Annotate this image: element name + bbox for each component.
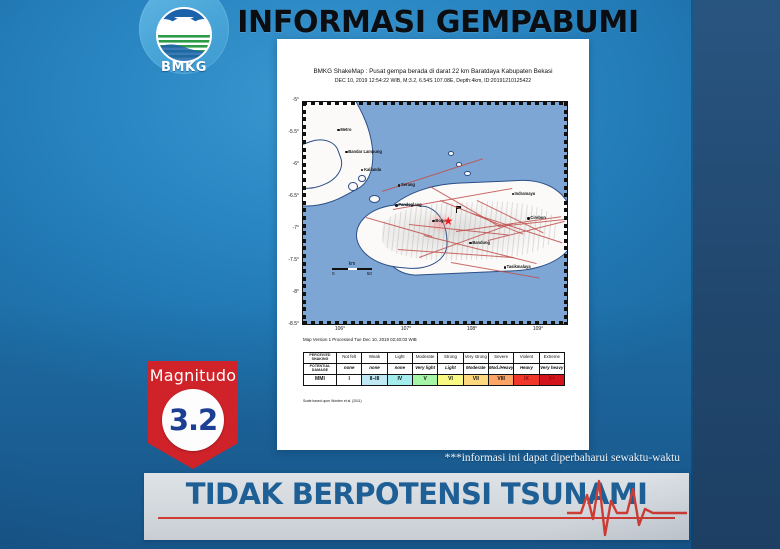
intensity-cell: VII — [463, 374, 488, 385]
axis-tickmark — [564, 201, 567, 205]
axis-tickmark — [303, 307, 306, 311]
axis-tickmark — [463, 102, 467, 105]
axis-tickmark — [303, 277, 306, 281]
y-axis-tick: -5° — [293, 97, 299, 103]
intensity-cell: Weak — [362, 353, 387, 364]
city-label: Tasikmalaya — [507, 264, 531, 269]
axis-tickmark — [327, 102, 331, 105]
intensity-cell: Violent — [514, 353, 539, 364]
axis-tickmark — [303, 201, 306, 205]
axis-tickmark — [303, 300, 306, 304]
axis-tickmark — [303, 170, 306, 174]
intensity-row-label: PERCEIVED SHAKING — [304, 353, 337, 364]
axis-tickmark — [303, 208, 306, 212]
axis-tickmark — [423, 102, 427, 105]
axis-tickmark — [303, 102, 307, 105]
axis-tickmark — [519, 102, 523, 105]
axis-tickmark — [343, 102, 347, 105]
x-axis-tick: 107° — [401, 326, 411, 332]
axis-tickmark — [303, 269, 306, 273]
axis-tickmark — [303, 193, 306, 197]
map-scalebar: km 0 50 — [332, 261, 372, 276]
intensity-row: POTENTIAL DAMAGEnonenonenoneVery lightLi… — [304, 363, 565, 374]
magnitude-label: Magnitudo — [148, 366, 238, 385]
axis-tickmark — [564, 239, 567, 243]
axis-tickmark — [564, 170, 567, 174]
shakemap-subtitle: DEC 10, 2019 12:54:22 WIB, M:3.2, 6.54S … — [285, 78, 581, 84]
intensity-cell: V — [412, 374, 437, 385]
axis-tickmark — [303, 178, 306, 182]
poster-root: BMKG INFORMASI GEMPABUMI BMKG ShakeMap :… — [0, 0, 780, 549]
map-version-note: Map Version 1 Processed Tue Dec 10, 2019… — [303, 337, 417, 342]
axis-tickmark — [439, 102, 443, 105]
x-axis-tick: 106° — [335, 326, 345, 332]
page-title: INFORMASI GEMPABUMI — [238, 2, 638, 42]
axis-tickmark — [564, 277, 567, 281]
city-label: Bandar Lampung — [348, 149, 382, 154]
y-axis-tick: -7.5° — [288, 257, 299, 263]
intensity-row-label: MMI — [304, 374, 337, 385]
intensity-cell: II–III — [362, 374, 387, 385]
axis-tickmark — [564, 254, 567, 258]
axis-tickmark — [367, 102, 371, 105]
intensity-cell: Moderate — [463, 363, 488, 374]
axis-tickmark — [564, 155, 567, 159]
city-label: Pandeglang — [398, 202, 421, 207]
city-label: Cirebon — [530, 215, 545, 220]
magnitude-circle: 3.2 — [162, 389, 224, 451]
axis-tickmark — [564, 125, 567, 129]
axis-tickmark — [431, 102, 435, 105]
axis-tickmark — [399, 102, 403, 105]
axis-tickmark — [564, 163, 567, 167]
axis-tickmark — [407, 102, 411, 105]
axis-tickmark — [303, 117, 306, 121]
intensity-cell: Very light — [412, 363, 437, 374]
city-label: Serang — [401, 182, 415, 187]
axis-tickmark — [303, 315, 306, 319]
axis-tickmark — [303, 125, 306, 129]
axis-tickmark — [311, 102, 315, 105]
axis-tickmark — [535, 102, 539, 105]
axis-tickmark — [564, 186, 567, 190]
x-axis-tick: 108° — [467, 326, 477, 332]
axis-tickmark — [303, 110, 306, 114]
axis-tickmark — [567, 321, 568, 324]
axis-tickmark — [564, 224, 567, 228]
axis-tickmark — [527, 102, 531, 105]
axis-tickmark — [487, 102, 491, 105]
axis-tickmark — [564, 262, 567, 266]
intensity-cell: Very heavy — [539, 363, 564, 374]
city-label: Kalianda — [364, 167, 381, 172]
axis-tickmark — [503, 102, 507, 105]
axis-tickmark — [375, 102, 379, 105]
axis-tickmark — [564, 216, 567, 220]
island-thousand-c — [464, 171, 471, 176]
magnitude-badge: Magnitudo 3.2 — [148, 361, 238, 469]
axis-tickmark — [303, 262, 306, 266]
axis-tickmark — [335, 102, 339, 105]
background-right-panel — [693, 0, 780, 549]
axis-tickmark — [564, 132, 567, 136]
intensity-cell: none — [337, 363, 362, 374]
axis-tickmark — [564, 178, 567, 182]
intensity-cell: Light — [387, 353, 412, 364]
axis-tickmark — [303, 140, 306, 144]
intensity-cell: Mod./Heavy — [488, 363, 513, 374]
intensity-cell: Severe — [488, 353, 513, 364]
axis-tickmark — [564, 246, 567, 250]
axis-tickmark — [543, 102, 547, 105]
city-label: Bandung — [472, 240, 490, 245]
axis-tickmark — [303, 284, 306, 288]
intensity-cell: none — [387, 363, 412, 374]
axis-tickmark — [303, 254, 306, 258]
intensity-cell: IX — [514, 374, 539, 385]
axis-tickmark — [564, 140, 567, 144]
intensity-cell: Extreme — [539, 353, 564, 364]
axis-tickmark — [511, 102, 515, 105]
axis-tickmark — [351, 102, 355, 105]
axis-tickmark — [303, 186, 306, 190]
scale-source-note: Scale based upon Worden et al. (2011) — [303, 399, 362, 403]
axis-tickmark — [303, 132, 306, 136]
magnitude-value: 3.2 — [169, 403, 217, 437]
axis-tickmark — [303, 246, 306, 250]
intensity-cell: none — [362, 363, 387, 374]
axis-tickmark — [383, 102, 387, 105]
axis-tickmark — [564, 231, 567, 235]
axis-tickmark — [564, 307, 567, 311]
island-sebesi — [358, 175, 365, 182]
axis-tickmark — [391, 102, 395, 105]
intensity-cell: X+ — [539, 374, 564, 385]
intensity-cell: Moderate — [412, 353, 437, 364]
intensity-cell: Very strong — [463, 353, 488, 364]
axis-tickmark — [455, 102, 459, 105]
axis-tickmark — [303, 148, 306, 152]
y-axis-tick: -8.5° — [288, 321, 299, 327]
axis-tickmark — [564, 292, 567, 296]
intensity-cell: Strong — [438, 353, 463, 364]
x-axis-tick: 109° — [533, 326, 543, 332]
axis-tickmark — [303, 292, 306, 296]
intensity-cell: I — [337, 374, 362, 385]
axis-tickmark — [447, 102, 451, 105]
axis-tickmark — [564, 117, 567, 121]
axis-tickmark — [564, 269, 567, 273]
shakemap-plot[interactable]: MetroBandar LampungKaliandaSerangPandegl… — [302, 101, 568, 325]
scalebar-unit: km — [332, 261, 372, 267]
axis-tickmark — [303, 216, 306, 220]
intensity-cell: IV — [387, 374, 412, 385]
axis-tickmark — [495, 102, 499, 105]
intensity-cell: Light — [438, 363, 463, 374]
intensity-row-label: POTENTIAL DAMAGE — [304, 363, 337, 374]
intensity-cell: Not felt — [337, 353, 362, 364]
axis-tickmark — [564, 315, 567, 319]
y-axis-tick: -7° — [293, 225, 299, 231]
epicenter-star-icon: ★ — [443, 215, 454, 227]
shakemap-card: BMKG ShakeMap : Pusat gempa berada di da… — [277, 39, 589, 450]
logo-label: BMKG — [139, 60, 229, 75]
axis-tickmark — [359, 102, 363, 105]
axis-tickmark — [564, 284, 567, 288]
map-y-axis: -5°-5.5°-6°-6.5°-7°-7.5°-8°-8.5° — [277, 97, 301, 327]
axis-tickmark — [415, 102, 419, 105]
axis-tickmark — [303, 224, 306, 228]
intensity-row: MMIIII–IIIIVVVIVIIVIIIIXX+ — [304, 374, 565, 385]
axis-tickmark — [564, 300, 567, 304]
axis-tickmark — [567, 102, 568, 105]
axis-tickmark — [551, 102, 555, 105]
axis-tickmark — [471, 102, 475, 105]
map-x-axis: 106°107°108°109° — [302, 324, 566, 338]
city-label: Metro — [340, 127, 351, 132]
panel-divider — [691, 0, 693, 549]
city-label: Indramayu — [515, 191, 536, 196]
intensity-cell: VI — [438, 374, 463, 385]
seismograph-wave-icon — [567, 479, 687, 539]
update-disclaimer: ***informasi ini dapat diperbaharui sewa… — [380, 452, 680, 464]
axis-tickmark — [319, 102, 323, 105]
scalebar-start: 0 — [332, 271, 335, 276]
axis-tickmark — [564, 208, 567, 212]
tsunami-status-banner: TIDAK BERPOTENSI TSUNAMI — [144, 473, 689, 540]
island-panaitan — [369, 195, 380, 203]
y-axis-tick: -5.5° — [288, 129, 299, 135]
axis-tickmark — [564, 148, 567, 152]
axis-tickmark — [559, 102, 563, 105]
y-axis-tick: -6° — [293, 161, 299, 167]
axis-tickmark — [564, 110, 567, 114]
y-axis-tick: -8° — [293, 289, 299, 295]
axis-tickmark — [564, 193, 567, 197]
bmkg-logo-icon — [154, 5, 214, 65]
intensity-cell: VIII — [488, 374, 513, 385]
shakemap-title: BMKG ShakeMap : Pusat gempa berada di da… — [285, 68, 581, 77]
axis-tickmark — [303, 239, 306, 243]
scalebar-bar — [332, 268, 372, 270]
intensity-row: PERCEIVED SHAKINGNot feltWeakLightModera… — [304, 353, 565, 364]
axis-tickmark — [479, 102, 483, 105]
scalebar-end: 50 — [367, 271, 372, 276]
intensity-legend-table: PERCEIVED SHAKINGNot feltWeakLightModera… — [303, 352, 565, 386]
axis-tickmark — [303, 231, 306, 235]
axis-tickmark — [303, 155, 306, 159]
y-axis-tick: -6.5° — [288, 193, 299, 199]
axis-tickmark — [303, 163, 306, 167]
intensity-cell: Heavy — [514, 363, 539, 374]
